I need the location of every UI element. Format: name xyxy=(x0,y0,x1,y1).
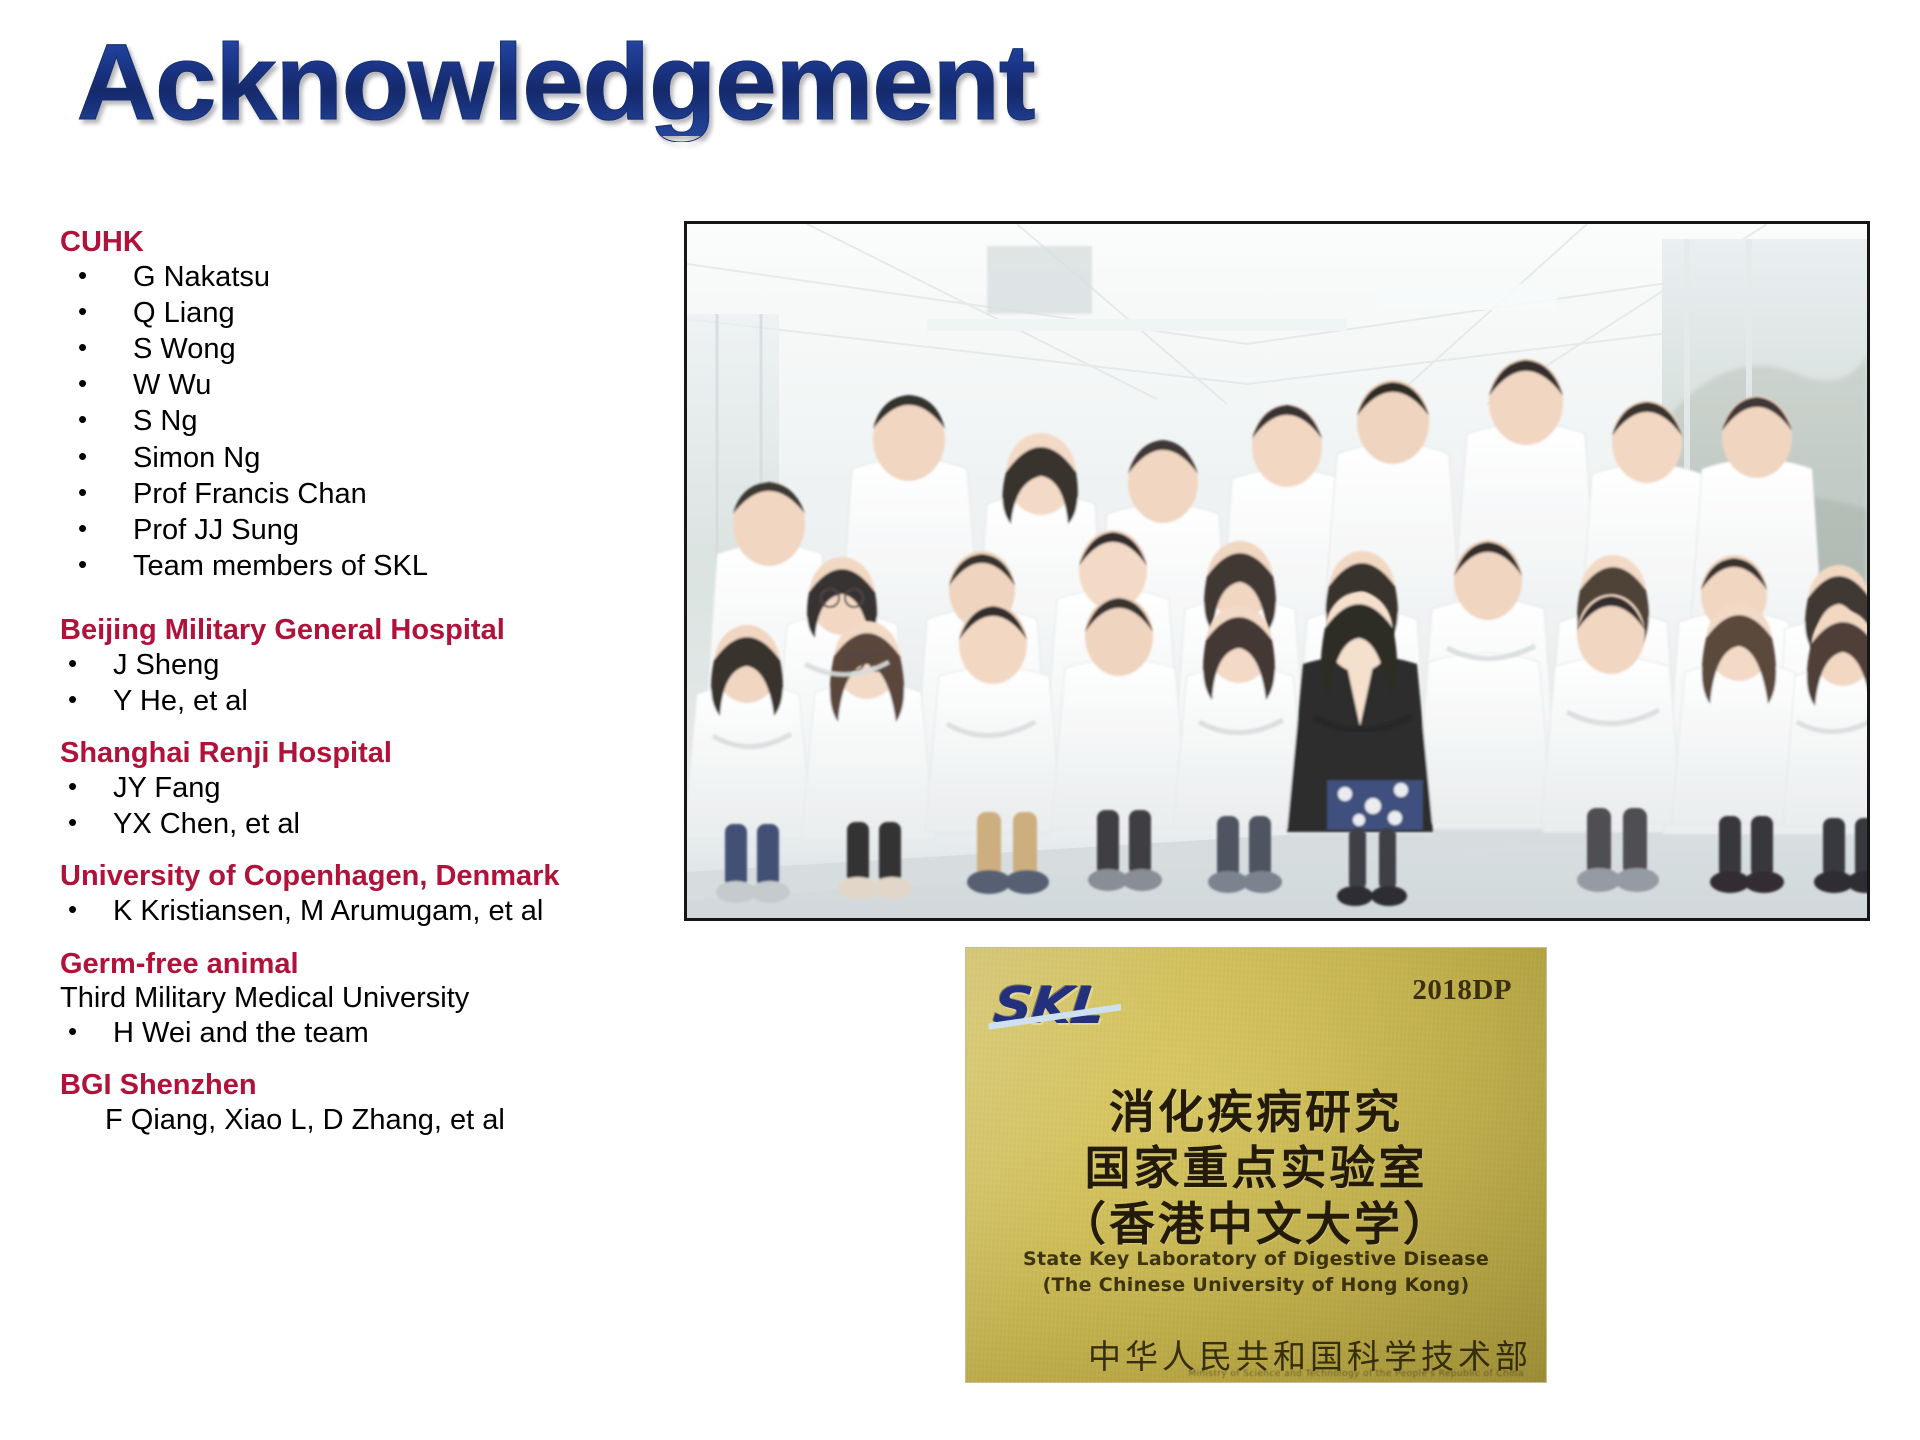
section-bgi-shenzhen: BGI Shenzhen F Qiang, Xiao L, D Zhang, e… xyxy=(60,1069,680,1138)
skl-plaque: SKL 2018DP 消化疾病研究 国家重点实验室 （香港中文大学） State… xyxy=(966,948,1546,1382)
section-germ-free-animal: Germ-free animal Third Military Medical … xyxy=(60,948,680,1052)
spacer xyxy=(60,719,680,737)
list-item: •Team members of SKL xyxy=(60,548,680,584)
list-item-label: S Ng xyxy=(133,403,197,439)
group-photo-image xyxy=(687,224,1867,918)
bullet-icon: • xyxy=(60,809,113,835)
section-items: •H Wei and the team xyxy=(60,1015,680,1051)
section-heading: Shanghai Renji Hospital xyxy=(60,737,680,770)
list-item-label: Y He, et al xyxy=(113,683,248,719)
spacer xyxy=(60,930,680,948)
bullet-icon: • xyxy=(60,370,133,396)
list-item: •Simon Ng xyxy=(60,440,680,476)
section-heading: Germ-free animal xyxy=(60,948,680,981)
list-item: •JY Fang xyxy=(60,770,680,806)
list-item-label: G Nakatsu xyxy=(133,259,270,295)
list-item-label: Prof Francis Chan xyxy=(133,476,367,512)
bullet-icon: • xyxy=(60,298,133,324)
plaque-chinese-line-3: （香港中文大学） xyxy=(966,1188,1546,1254)
bullet-icon: • xyxy=(60,443,133,469)
bullet-icon: • xyxy=(60,686,113,712)
bullet-icon: • xyxy=(60,896,113,922)
bullet-icon: • xyxy=(60,262,133,288)
bullet-icon: • xyxy=(60,1018,113,1044)
section-heading: Beijing Military General Hospital xyxy=(60,614,680,647)
list-item: •Prof JJ Sung xyxy=(60,512,680,548)
section-subline: Third Military Medical University xyxy=(60,981,680,1016)
list-item: •Y He, et al xyxy=(60,683,680,719)
group-photo xyxy=(684,221,1870,921)
list-item-label: W Wu xyxy=(133,367,211,403)
list-item: •J Sheng xyxy=(60,647,680,683)
list-item-label: F Qiang, Xiao L, D Zhang, et al xyxy=(60,1102,680,1138)
bullet-icon: • xyxy=(60,551,133,577)
list-item: • K Kristiansen, M Arumugam, et al xyxy=(60,893,680,929)
list-item: •Q Liang xyxy=(60,295,680,331)
acknowledgement-list: CUHK •G Nakatsu •Q Liang •S Wong •W Wu •… xyxy=(60,226,680,1139)
list-item: •Prof Francis Chan xyxy=(60,476,680,512)
spacer xyxy=(60,1051,680,1069)
section-heading: BGI Shenzhen xyxy=(60,1069,680,1102)
plaque-ministry-english: Ministry of Science and Technology of th… xyxy=(966,1369,1524,1379)
section-items: •JY Fang •YX Chen, et al xyxy=(60,770,680,842)
list-item: •YX Chen, et al xyxy=(60,806,680,842)
list-item: •G Nakatsu xyxy=(60,259,680,295)
bullet-icon: • xyxy=(60,515,133,541)
list-item-label: Prof JJ Sung xyxy=(133,512,299,548)
section-shanghai-renji-hospital: Shanghai Renji Hospital •JY Fang •YX Che… xyxy=(60,737,680,842)
section-university-of-copenhagen: University of Copenhagen, Denmark • K Kr… xyxy=(60,860,680,929)
list-item-label: H Wei and the team xyxy=(113,1015,369,1051)
section-items: •J Sheng •Y He, et al xyxy=(60,647,680,719)
bullet-icon: • xyxy=(60,650,113,676)
section-items: • K Kristiansen, M Arumugam, et al xyxy=(60,893,680,929)
list-item: •S Ng xyxy=(60,403,680,439)
page-title: Acknowledgement xyxy=(77,28,1035,136)
list-item-label: K Kristiansen, M Arumugam, et al xyxy=(113,893,543,929)
list-item-label: S Wong xyxy=(133,331,236,367)
list-item-label: YX Chen, et al xyxy=(113,806,300,842)
list-item-label: JY Fang xyxy=(113,770,220,806)
bullet-icon: • xyxy=(60,773,113,799)
list-item: •S Wong xyxy=(60,331,680,367)
section-cuhk: CUHK •G Nakatsu •Q Liang •S Wong •W Wu •… xyxy=(60,226,680,584)
section-items: •G Nakatsu •Q Liang •S Wong •W Wu •S Ng … xyxy=(60,259,680,584)
plaque-year-code: 2018DP xyxy=(1412,974,1512,1007)
spacer xyxy=(60,842,680,860)
section-heading: University of Copenhagen, Denmark xyxy=(60,860,680,893)
list-item: •H Wei and the team xyxy=(60,1015,680,1051)
spacer xyxy=(60,584,680,614)
bullet-icon: • xyxy=(60,479,133,505)
list-item-label: Team members of SKL xyxy=(133,548,428,584)
skl-logo: SKL xyxy=(991,976,1106,1035)
bullet-icon: • xyxy=(60,334,133,360)
section-heading: CUHK xyxy=(60,226,680,259)
plaque-english-line-1: State Key Laboratory of Digestive Diseas… xyxy=(966,1248,1546,1270)
section-beijing-military-general-hospital: Beijing Military General Hospital •J She… xyxy=(60,614,680,719)
list-item: •W Wu xyxy=(60,367,680,403)
list-item-label: J Sheng xyxy=(113,647,219,683)
list-item-label: Simon Ng xyxy=(133,440,260,476)
bullet-icon: • xyxy=(60,406,133,432)
plaque-english-line-2: (The Chinese University of Hong Kong) xyxy=(966,1274,1546,1296)
list-item-label: Q Liang xyxy=(133,295,235,331)
